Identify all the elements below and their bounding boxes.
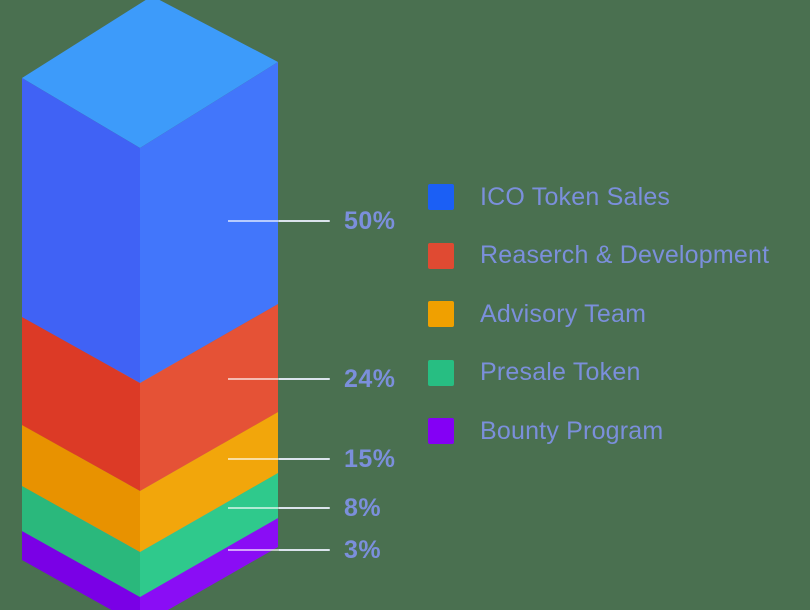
legend-label-presale: Presale Token bbox=[480, 360, 641, 385]
legend-label-research: Reaserch & Development bbox=[480, 243, 769, 268]
legend-swatch-advisory bbox=[428, 301, 454, 327]
callout-research: 24% bbox=[278, 369, 396, 389]
legend-item-ico[interactable]: ICO Token Sales bbox=[428, 168, 804, 227]
legend-item-bounty[interactable]: Bounty Program bbox=[428, 402, 804, 461]
leader-line-advisory bbox=[278, 458, 330, 460]
legend-item-presale[interactable]: Presale Token bbox=[428, 344, 804, 403]
leader-line-inner-ico bbox=[228, 220, 278, 222]
bar-segment-ico[interactable] bbox=[22, 0, 278, 383]
legend-swatch-presale bbox=[428, 360, 454, 386]
callout-value-bounty: 3% bbox=[344, 538, 381, 563]
callout-advisory: 15% bbox=[278, 449, 396, 469]
leader-line-inner-bounty bbox=[228, 549, 278, 551]
legend-swatch-research bbox=[428, 243, 454, 269]
callout-bounty: 3% bbox=[278, 540, 381, 560]
leader-line-inner-research bbox=[228, 378, 278, 380]
legend-swatch-bounty bbox=[428, 418, 454, 444]
leader-line-research bbox=[278, 378, 330, 380]
legend-label-bounty: Bounty Program bbox=[480, 419, 663, 444]
leader-line-ico bbox=[278, 220, 330, 222]
callout-value-advisory: 15% bbox=[344, 447, 396, 472]
leader-line-presale bbox=[278, 507, 330, 509]
leader-line-inner-presale bbox=[228, 507, 278, 509]
callout-value-presale: 8% bbox=[344, 496, 381, 521]
leader-line-inner-advisory bbox=[228, 458, 278, 460]
legend-item-research[interactable]: Reaserch & Development bbox=[428, 227, 804, 286]
callout-value-research: 24% bbox=[344, 367, 396, 392]
legend-item-advisory[interactable]: Advisory Team bbox=[428, 285, 804, 344]
chart-legend: ICO Token Sales Reaserch & Development A… bbox=[428, 168, 804, 461]
callout-ico: 50% bbox=[278, 211, 396, 231]
legend-label-advisory: Advisory Team bbox=[480, 302, 646, 327]
chart-canvas: 50% 24% 15% 8% 3% ICO Token Sales Reaser… bbox=[0, 0, 810, 610]
leader-line-bounty bbox=[278, 549, 330, 551]
legend-label-ico: ICO Token Sales bbox=[480, 185, 670, 210]
callout-value-ico: 50% bbox=[344, 209, 396, 234]
legend-swatch-ico bbox=[428, 184, 454, 210]
callout-presale: 8% bbox=[278, 498, 381, 518]
